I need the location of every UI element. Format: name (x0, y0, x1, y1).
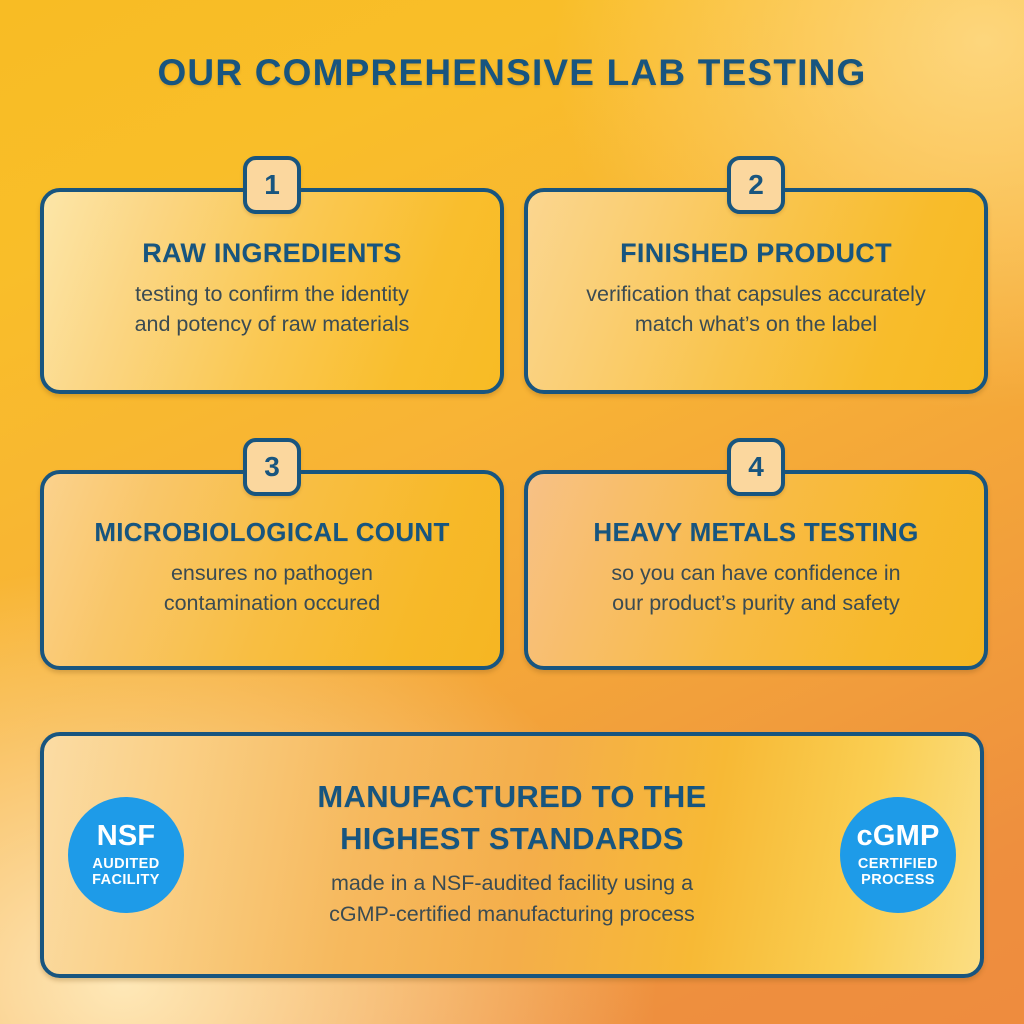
cgmp-certified-process-seal-icon: cGMP CERTIFIED PROCESS (840, 797, 956, 913)
card-content: MICROBIOLOGICAL COUNT ensures no pathoge… (44, 474, 500, 666)
card-body-line: verification that capsules accurately (586, 279, 925, 309)
panel-heading-line: HIGHEST STANDARDS (190, 818, 834, 860)
card-content: RAW INGREDIENTS testing to confirm the i… (44, 192, 500, 390)
nsf-audited-facility-seal-icon: NSF AUDITED FACILITY (68, 797, 184, 913)
testing-card-microbiological-count: 3 MICROBIOLOGICAL COUNT ensures no patho… (40, 470, 504, 670)
card-content: HEAVY METALS TESTING so you can have con… (528, 474, 984, 666)
card-body-line: and potency of raw materials (135, 309, 410, 339)
seal-sub-label: CERTIFIED PROCESS (858, 856, 938, 888)
card-body: testing to confirm the identity and pote… (135, 279, 410, 339)
panel-heading-line: MANUFACTURED TO THE (190, 776, 834, 818)
seal-sub-line: PROCESS (858, 872, 938, 888)
card-body: verification that capsules accurately ma… (586, 279, 925, 339)
card-body-line: so you can have confidence in (611, 558, 900, 588)
lab-testing-infographic: OUR COMPREHENSIVE LAB TESTING 1 RAW INGR… (0, 0, 1024, 1024)
panel-content: MANUFACTURED TO THE HIGHEST STANDARDS ma… (184, 776, 840, 930)
seal-main-label: NSF (97, 822, 156, 851)
card-heading: RAW INGREDIENTS (142, 238, 402, 269)
card-body-line: testing to confirm the identity (135, 279, 410, 309)
card-body-line: ensures no pathogen (164, 558, 380, 588)
page-title: OUR COMPREHENSIVE LAB TESTING (0, 52, 1024, 94)
step-number-badge-2: 2 (727, 156, 785, 214)
testing-card-finished-product: 2 FINISHED PRODUCT verification that cap… (524, 188, 988, 394)
card-heading: HEAVY METALS TESTING (593, 517, 918, 548)
seal-sub-label: AUDITED FACILITY (92, 856, 160, 888)
seal-sub-line: AUDITED (92, 856, 160, 872)
card-body-line: contamination occured (164, 588, 380, 618)
panel-body-line: made in a NSF-audited facility using a (190, 868, 834, 899)
step-number-badge-3: 3 (243, 438, 301, 496)
seal-sub-line: FACILITY (92, 872, 160, 888)
card-body: so you can have confidence in our produc… (611, 558, 900, 618)
panel-body: made in a NSF-audited facility using a c… (190, 868, 834, 930)
card-heading: MICROBIOLOGICAL COUNT (94, 517, 449, 548)
card-content: FINISHED PRODUCT verification that capsu… (528, 192, 984, 390)
step-number-badge-1: 1 (243, 156, 301, 214)
panel-body-line: cGMP-certified manufacturing process (190, 899, 834, 930)
panel-heading: MANUFACTURED TO THE HIGHEST STANDARDS (190, 776, 834, 860)
manufacturing-standards-panel: NSF AUDITED FACILITY MANUFACTURED TO THE… (40, 732, 984, 978)
testing-card-raw-ingredients: 1 RAW INGREDIENTS testing to confirm the… (40, 188, 504, 394)
card-body-line: our product’s purity and safety (611, 588, 900, 618)
card-heading: FINISHED PRODUCT (620, 238, 892, 269)
seal-sub-line: CERTIFIED (858, 856, 938, 872)
seal-main-label: cGMP (857, 822, 940, 851)
card-body: ensures no pathogen contamination occure… (164, 558, 380, 618)
testing-card-heavy-metals-testing: 4 HEAVY METALS TESTING so you can have c… (524, 470, 988, 670)
step-number-badge-4: 4 (727, 438, 785, 496)
card-body-line: match what’s on the label (586, 309, 925, 339)
